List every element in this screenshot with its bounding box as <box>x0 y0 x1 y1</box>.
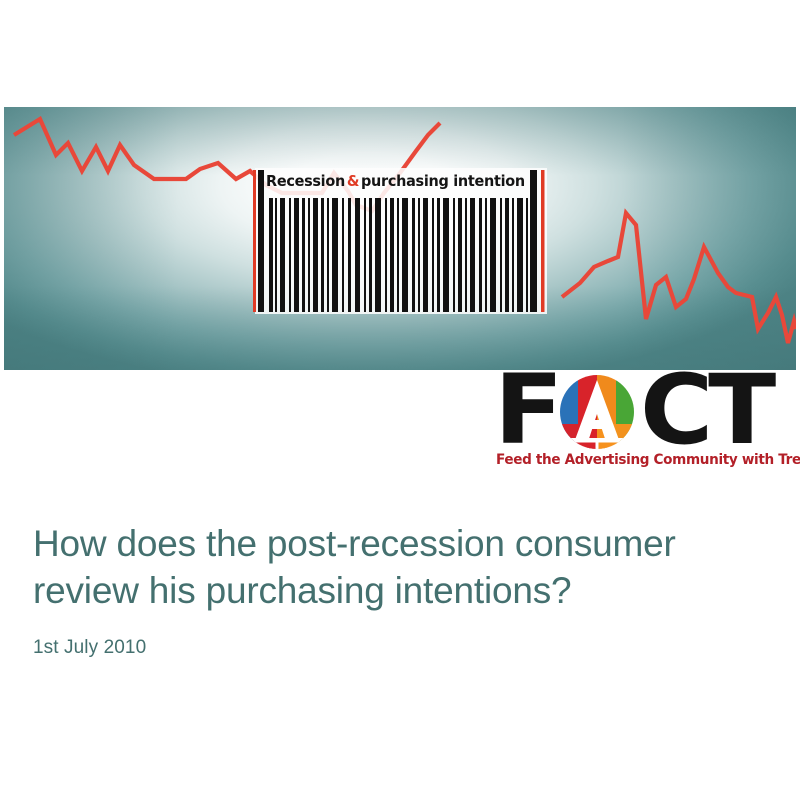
trend-line-right <box>562 213 796 343</box>
fact-logo: F CT <box>492 368 792 476</box>
slide-date: 1st July 2010 <box>33 637 763 659</box>
recession-banner: Recession & purchasing intention <box>4 107 796 370</box>
logo-letters-ct: CT <box>640 362 771 458</box>
logo-tagline: Feed the Advertising Community with Tren… <box>496 452 783 468</box>
barcode-graphic: Recession & purchasing intention <box>249 168 554 314</box>
barcode-title-ampersand: & <box>345 172 361 190</box>
barcode-title-suffix: purchasing intention <box>361 172 525 190</box>
logo-a-pie-mark <box>559 374 635 450</box>
barcode-title: Recession & purchasing intention <box>266 168 519 194</box>
page-title: How does the post-recession consumer rev… <box>33 520 763 615</box>
logo-letter-f: F <box>494 362 559 458</box>
slide-title-block: How does the post-recession consumer rev… <box>33 520 763 659</box>
fact-wordmark: F CT <box>492 368 792 454</box>
barcode-title-prefix: Recession <box>266 172 345 190</box>
